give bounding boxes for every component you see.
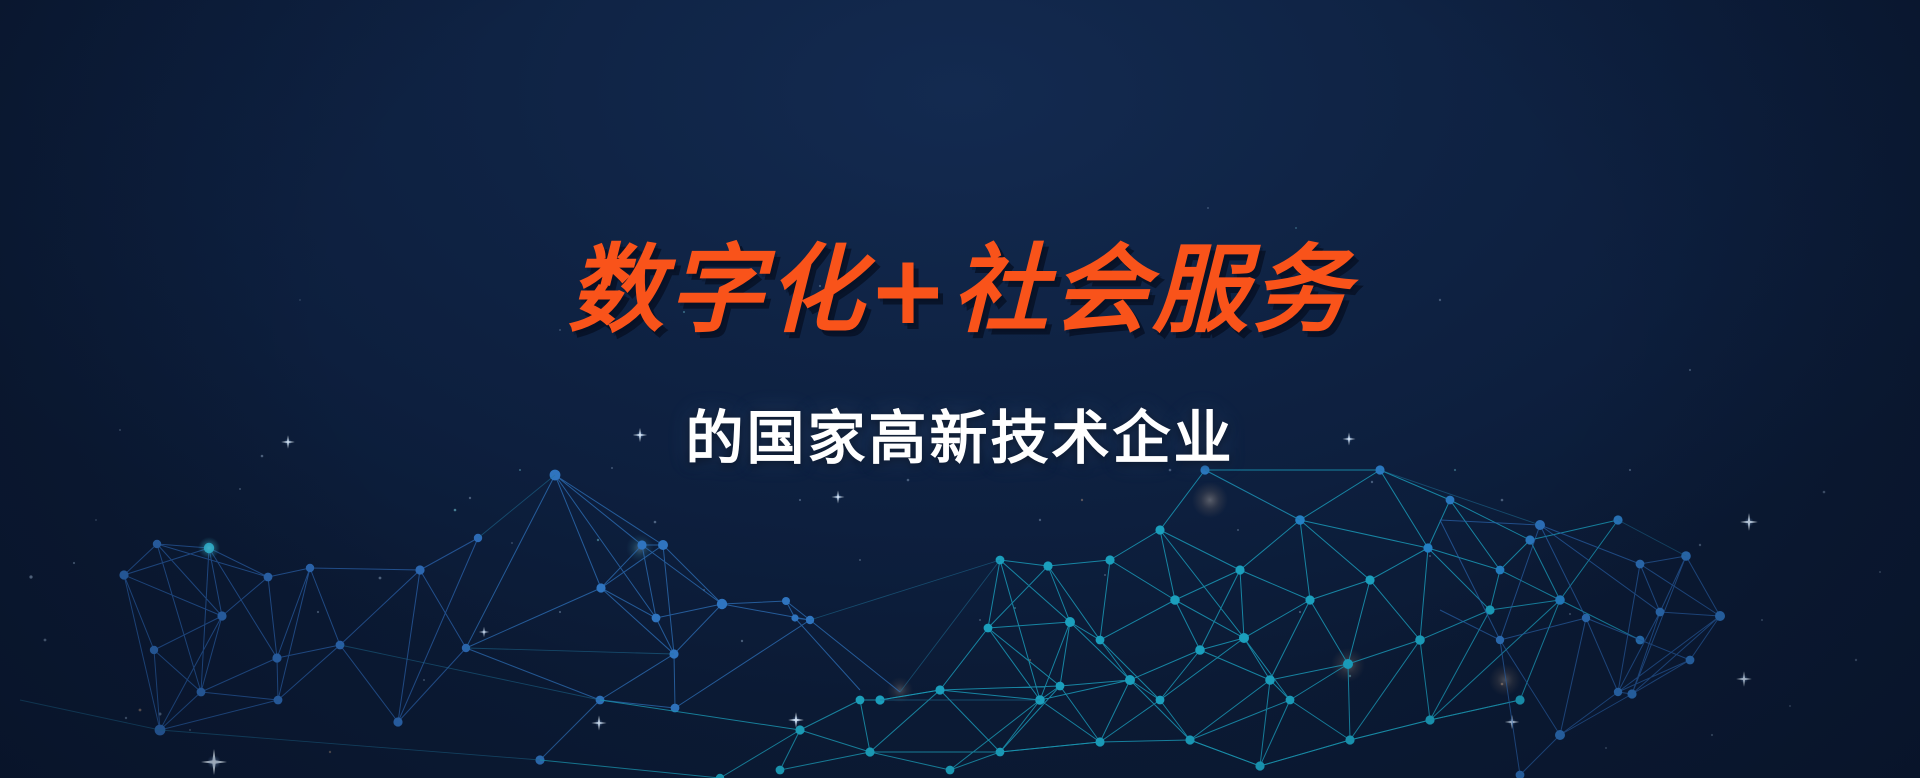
mesh-nodes-center-sparse: [535, 470, 814, 765]
mesh-nodes-far-right: [1496, 520, 1725, 778]
mesh-nodes-dense-teal: [875, 465, 1644, 770]
hero-banner: 数字化+社会服务 的国家高新技术企业: [0, 0, 1920, 778]
mesh-bridge-lines: [20, 470, 1686, 760]
mesh-cluster-left: [124, 538, 478, 730]
mesh-cluster-far-right: [1440, 520, 1720, 775]
mesh-cluster-center-sparse: [466, 475, 900, 760]
mesh-nodes-lower-center: [716, 696, 955, 778]
mesh-cluster-dense-teal: [880, 470, 1640, 766]
network-mesh-graphic: [0, 0, 1920, 778]
mesh-cluster-lower-center: [540, 690, 1520, 778]
